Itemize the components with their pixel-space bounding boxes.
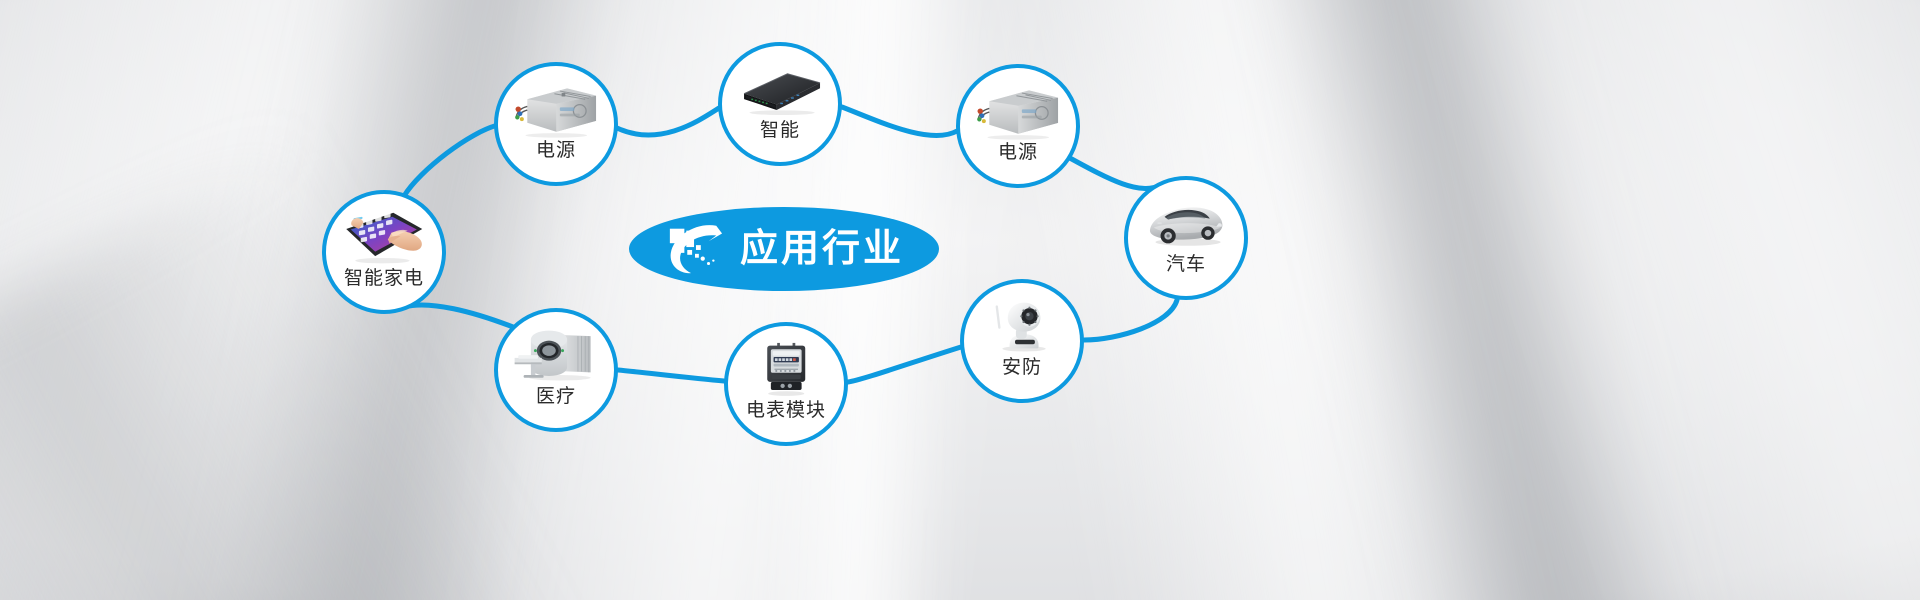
connector-arc xyxy=(1068,157,1161,189)
node-label: 智能家电 xyxy=(344,269,424,288)
node-power-right[interactable]: 电源 xyxy=(956,64,1080,188)
node-label: 安防 xyxy=(1002,358,1042,377)
application-industries-banner: 应用行业 xyxy=(0,0,1920,600)
connector-arc xyxy=(1084,300,1177,340)
power-supply-unit-image xyxy=(973,81,1063,141)
electric-meter-image xyxy=(741,339,831,399)
connector-arc xyxy=(848,347,961,382)
rackmount-server-image xyxy=(735,59,825,119)
node-label: 汽车 xyxy=(1166,255,1206,274)
connector-arc xyxy=(617,108,719,135)
node-meter[interactable]: 电表模块 xyxy=(724,322,848,446)
tablet-touch-hand-image xyxy=(339,207,429,267)
sports-car-image xyxy=(1141,193,1231,253)
node-connector-ring xyxy=(0,0,1920,600)
power-supply-unit-image xyxy=(511,79,601,139)
mri-ct-scanner-image xyxy=(511,325,601,385)
node-security[interactable]: 安防 xyxy=(960,279,1084,403)
node-label: 电源 xyxy=(536,141,576,160)
center-badge-title: 应用行业 xyxy=(740,230,904,268)
connector-arc xyxy=(404,305,513,327)
node-label: 医疗 xyxy=(536,387,576,406)
orbit-swoosh-logo-icon xyxy=(664,220,726,278)
node-automotive[interactable]: 汽车 xyxy=(1124,176,1248,300)
center-badge: 应用行业 xyxy=(629,207,939,291)
node-power-left[interactable]: 电源 xyxy=(494,62,618,186)
node-label: 电表模块 xyxy=(746,401,826,420)
ip-security-camera-image xyxy=(977,296,1067,356)
connector-arc xyxy=(842,107,957,136)
connector-arc xyxy=(618,370,724,381)
node-label: 智能 xyxy=(760,121,800,140)
connector-arc xyxy=(404,125,498,196)
node-medical[interactable]: 医疗 xyxy=(494,308,618,432)
node-label: 电源 xyxy=(998,143,1038,162)
node-smart[interactable]: 智能 xyxy=(718,42,842,166)
node-smart-home[interactable]: 智能家电 xyxy=(322,190,446,314)
